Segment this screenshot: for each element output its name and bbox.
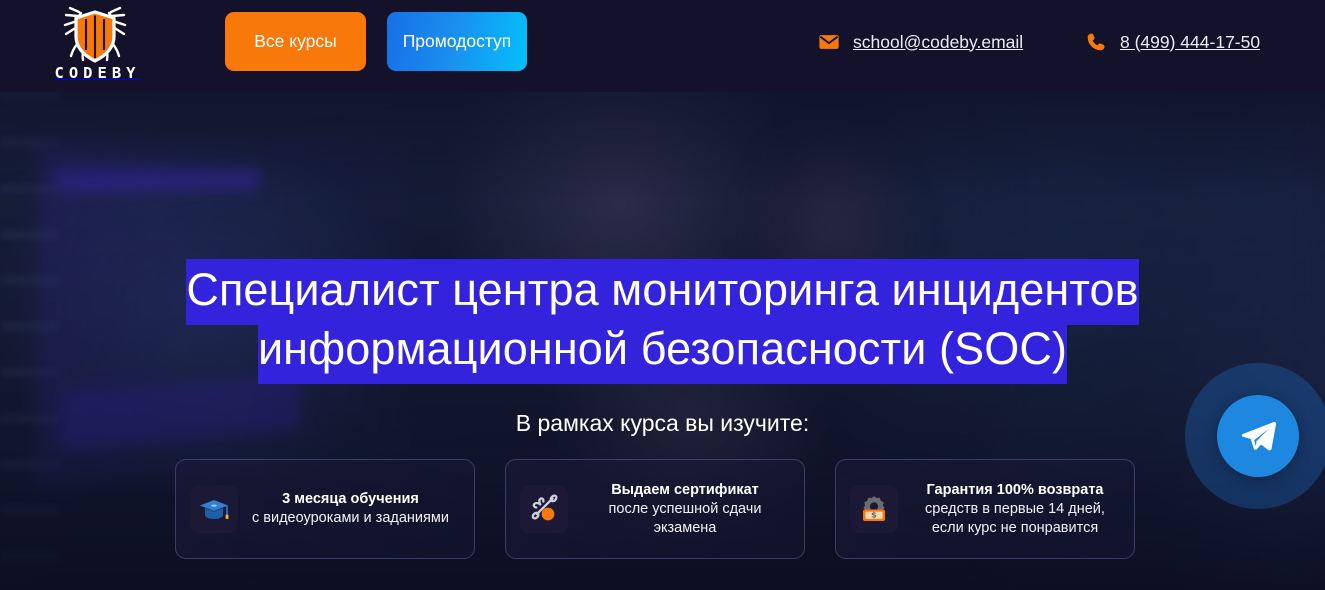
graduation-cap-icon-tile (190, 485, 238, 533)
feature-card-text: 3 месяца обучения с видеоуроками и задан… (252, 490, 449, 528)
feature-card-title: Выдаем сертификат (582, 481, 788, 500)
page-title-line-1: Специалист центра мониторинга инцидентов (186, 259, 1138, 325)
feature-card: Выдаем сертификат после успешной сдачи э… (505, 459, 805, 559)
money-back-icon-tile: $ (850, 485, 898, 533)
contact-phone-value: 8 (499) 444-17-50 (1120, 32, 1260, 53)
telegram-paper-plane-icon (1239, 417, 1277, 455)
feature-card-text: Гарантия 100% возврата средств в первые … (912, 481, 1118, 538)
page-title: Специалист центра мониторинга инцидентов… (0, 260, 1325, 378)
telegram-button[interactable] (1217, 395, 1299, 477)
promo-access-button[interactable]: Промодоступ (387, 12, 527, 71)
feature-card-title: Гарантия 100% возврата (912, 481, 1118, 500)
contact-email-value: school@codeby.email (853, 32, 1023, 53)
phone-icon (1085, 31, 1107, 53)
telegram-fab-wrapper (1185, 363, 1325, 509)
feature-card-desc: после успешной сдачи экзамена (582, 500, 788, 538)
site-header: CODEBY Все курсы Промодоступ school@code… (0, 0, 1325, 92)
all-courses-button[interactable]: Все курсы (225, 12, 366, 71)
feature-card-title: 3 месяца обучения (252, 490, 449, 509)
envelope-icon (818, 31, 840, 53)
feature-card: 3 месяца обучения с видеоуроками и задан… (175, 459, 475, 559)
graduation-cap-icon (198, 493, 230, 525)
feature-card-list: 3 месяца обучения с видеоуроками и задан… (175, 459, 1135, 559)
certificate-scroll-icon (528, 493, 560, 525)
contact-email[interactable]: school@codeby.email (818, 31, 1023, 53)
logo[interactable]: CODEBY (38, 6, 152, 86)
money-back-icon: $ (858, 493, 890, 525)
hero-section: 3-месячный онлайн-курс Специалист центра… (0, 92, 1325, 590)
hero-content: 3-месячный онлайн-курс Специалист центра… (0, 92, 1325, 590)
feature-card-text: Выдаем сертификат после успешной сдачи э… (582, 481, 788, 538)
spider-shield-logo-icon (59, 6, 131, 64)
contact-phone[interactable]: 8 (499) 444-17-50 (1085, 31, 1260, 53)
certificate-scroll-icon-tile (520, 485, 568, 533)
page-title-line-2: информационной безопасности (SOC) (258, 318, 1067, 384)
feature-card: $ Гарантия 100% возврата средств в первы… (835, 459, 1135, 559)
hero-subheading: В рамках курса вы изучите: (0, 410, 1325, 437)
feature-card-desc: с видеоуроками и заданиями (252, 509, 449, 528)
svg-text:$: $ (871, 510, 877, 520)
logo-wordmark: CODEBY (50, 66, 141, 82)
page-root: CODEBY Все курсы Промодоступ school@code… (0, 0, 1325, 590)
feature-card-desc: средств в первые 14 дней, если курс не п… (912, 500, 1118, 538)
